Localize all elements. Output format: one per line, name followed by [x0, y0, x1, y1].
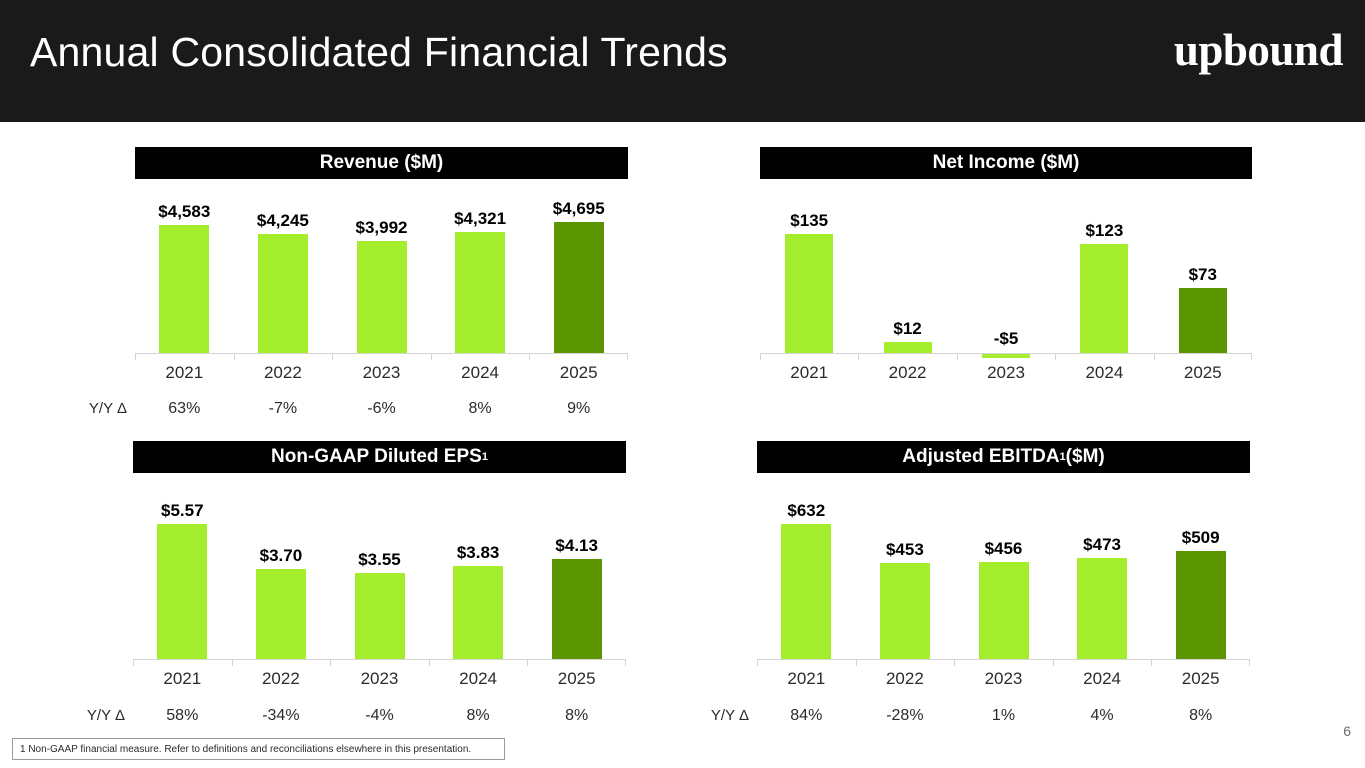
x-axis-line	[135, 353, 628, 354]
category-label-non-gaap-diluted-eps-2023: 2023	[330, 669, 429, 689]
axis-tick	[1154, 353, 1155, 360]
bar-value-label-net-income-2025: $73	[1154, 265, 1252, 285]
axis-tick	[625, 659, 626, 666]
category-label-revenue-2022: 2022	[234, 363, 333, 383]
yy-delta-row-label-adjusted-ebitda: Y/Y Δ	[685, 707, 749, 724]
axis-tick	[529, 353, 530, 360]
bar-adjusted-ebitda-2024	[1077, 558, 1127, 659]
bar-value-label-revenue-2023: $3,992	[332, 218, 431, 238]
yy-delta-revenue-2021: 63%	[135, 400, 234, 418]
category-label-adjusted-ebitda-2023: 2023	[954, 669, 1053, 689]
plot-area-revenue: $4,583$4,245$3,992$4,321$4,695	[135, 205, 628, 355]
bar-value-label-net-income-2021: $135	[760, 211, 858, 231]
category-label-revenue-2021: 2021	[135, 363, 234, 383]
category-label-net-income-2023: 2023	[957, 363, 1055, 383]
yy-delta-non-gaap-diluted-eps-2022: -34%	[232, 707, 331, 725]
chart-title-text: Non-GAAP Diluted EPS	[271, 446, 482, 468]
bar-value-label-adjusted-ebitda-2023: $456	[954, 539, 1053, 559]
axis-tick	[431, 353, 432, 360]
bar-value-label-revenue-2022: $4,245	[234, 211, 333, 231]
yy-delta-revenue-2022: -7%	[234, 400, 333, 418]
yy-delta-adjusted-ebitda-2021: 84%	[757, 707, 856, 725]
yy-delta-revenue-2024: 8%	[431, 400, 530, 418]
chart-panel-adjusted-ebitda: Adjusted EBITDA1 ($M)$632$453$456$473$50…	[757, 441, 1250, 747]
category-label-non-gaap-diluted-eps-2021: 2021	[133, 669, 232, 689]
axis-tick	[1249, 659, 1250, 666]
category-label-adjusted-ebitda-2024: 2024	[1053, 669, 1152, 689]
plot-area-adjusted-ebitda: $632$453$456$473$509	[757, 499, 1250, 661]
category-label-net-income-2022: 2022	[858, 363, 956, 383]
category-label-non-gaap-diluted-eps-2022: 2022	[232, 669, 331, 689]
yy-delta-adjusted-ebitda-2023: 1%	[954, 707, 1053, 725]
category-label-revenue-2024: 2024	[431, 363, 530, 383]
chart-title-text: Adjusted EBITDA	[902, 446, 1059, 468]
axis-tick	[1055, 353, 1056, 360]
footnote-box: 1 Non-GAAP financial measure. Refer to d…	[12, 738, 505, 760]
category-label-adjusted-ebitda-2022: 2022	[856, 669, 955, 689]
bar-revenue-2025	[554, 222, 604, 353]
bar-value-label-adjusted-ebitda-2021: $632	[757, 501, 856, 521]
yy-delta-adjusted-ebitda-2024: 4%	[1053, 707, 1152, 725]
axis-tick	[1151, 659, 1152, 666]
slide-header: Annual Consolidated Financial Trends upb…	[0, 0, 1365, 122]
bar-non-gaap-diluted-eps-2023	[355, 573, 405, 659]
yy-delta-revenue-2023: -6%	[332, 400, 431, 418]
category-label-net-income-2024: 2024	[1055, 363, 1153, 383]
axis-tick	[627, 353, 628, 360]
bar-adjusted-ebitda-2021	[781, 524, 831, 659]
yy-delta-non-gaap-diluted-eps-2024: 8%	[429, 707, 528, 725]
bar-net-income-2023	[982, 354, 1030, 358]
axis-tick	[332, 353, 333, 360]
bar-value-label-adjusted-ebitda-2025: $509	[1151, 528, 1250, 548]
x-axis-line	[757, 659, 1250, 660]
category-label-revenue-2023: 2023	[332, 363, 431, 383]
bar-non-gaap-diluted-eps-2021	[157, 524, 207, 659]
x-axis-line	[133, 659, 626, 660]
bar-net-income-2025	[1179, 288, 1227, 353]
category-label-revenue-2025: 2025	[529, 363, 628, 383]
bar-value-label-revenue-2021: $4,583	[135, 202, 234, 222]
category-label-adjusted-ebitda-2025: 2025	[1151, 669, 1250, 689]
bar-net-income-2024	[1080, 244, 1128, 353]
bar-value-label-net-income-2023: -$5	[957, 329, 1055, 349]
axis-tick	[234, 353, 235, 360]
bar-adjusted-ebitda-2025	[1176, 551, 1226, 659]
bar-value-label-revenue-2024: $4,321	[431, 209, 530, 229]
axis-tick	[858, 353, 859, 360]
axis-tick	[757, 659, 758, 666]
chart-panel-non-gaap-diluted-eps: Non-GAAP Diluted EPS1$5.57$3.70$3.55$3.8…	[133, 441, 626, 747]
bar-revenue-2021	[159, 225, 209, 353]
bar-value-label-non-gaap-diluted-eps-2023: $3.55	[330, 550, 429, 570]
chart-panel-net-income: Net Income ($M)$135$12-$5$123$7320212022…	[760, 147, 1252, 440]
x-axis-line	[760, 353, 1252, 354]
axis-tick	[1251, 353, 1252, 360]
axis-tick	[760, 353, 761, 360]
category-label-adjusted-ebitda-2021: 2021	[757, 669, 856, 689]
category-label-net-income-2021: 2021	[760, 363, 858, 383]
bar-non-gaap-diluted-eps-2025	[552, 559, 602, 659]
axis-tick	[232, 659, 233, 666]
page-number: 6	[1343, 723, 1351, 739]
footnote-text: 1 Non-GAAP financial measure. Refer to d…	[13, 744, 471, 755]
bar-non-gaap-diluted-eps-2022	[256, 569, 306, 659]
axis-tick	[527, 659, 528, 666]
category-label-non-gaap-diluted-eps-2025: 2025	[527, 669, 626, 689]
axis-tick	[330, 659, 331, 666]
axis-tick	[133, 659, 134, 666]
chart-title-text: Net Income ($M)	[933, 152, 1080, 174]
yy-delta-non-gaap-diluted-eps-2025: 8%	[527, 707, 626, 725]
chart-title-text: Revenue ($M)	[320, 152, 444, 174]
category-label-non-gaap-diluted-eps-2024: 2024	[429, 669, 528, 689]
chart-panel-revenue: Revenue ($M)$4,583$4,245$3,992$4,321$4,6…	[135, 147, 628, 440]
bar-non-gaap-diluted-eps-2024	[453, 566, 503, 659]
plot-area-net-income: $135$12-$5$123$73	[760, 205, 1252, 355]
bar-value-label-net-income-2022: $12	[858, 319, 956, 339]
axis-tick	[957, 353, 958, 360]
bar-value-label-adjusted-ebitda-2022: $453	[856, 540, 955, 560]
bar-revenue-2022	[258, 234, 308, 353]
axis-tick	[1053, 659, 1054, 666]
bar-adjusted-ebitda-2023	[979, 562, 1029, 659]
axis-tick	[135, 353, 136, 360]
yy-delta-non-gaap-diluted-eps-2023: -4%	[330, 707, 429, 725]
bar-value-label-non-gaap-diluted-eps-2024: $3.83	[429, 543, 528, 563]
chart-title-adjusted-ebitda: Adjusted EBITDA1 ($M)	[757, 441, 1250, 473]
yy-delta-row-label-revenue: Y/Y Δ	[63, 400, 127, 417]
yy-delta-adjusted-ebitda-2022: -28%	[856, 707, 955, 725]
chart-title-suffix: ($M)	[1066, 446, 1105, 468]
yy-delta-adjusted-ebitda-2025: 8%	[1151, 707, 1250, 725]
yy-delta-non-gaap-diluted-eps-2021: 58%	[133, 707, 232, 725]
bar-value-label-revenue-2025: $4,695	[529, 199, 628, 219]
chart-title-non-gaap-diluted-eps: Non-GAAP Diluted EPS1	[133, 441, 626, 473]
bar-net-income-2021	[785, 234, 833, 353]
upbound-logo: upbound	[1174, 24, 1343, 76]
chart-title-net-income: Net Income ($M)	[760, 147, 1252, 179]
yy-delta-row-label-non-gaap-diluted-eps: Y/Y Δ	[61, 707, 125, 724]
bar-value-label-net-income-2024: $123	[1055, 221, 1153, 241]
bar-value-label-non-gaap-diluted-eps-2022: $3.70	[232, 546, 331, 566]
axis-tick	[954, 659, 955, 666]
category-label-net-income-2025: 2025	[1154, 363, 1252, 383]
axis-tick	[856, 659, 857, 666]
bar-value-label-non-gaap-diluted-eps-2021: $5.57	[133, 501, 232, 521]
bar-net-income-2022	[884, 342, 932, 353]
bar-adjusted-ebitda-2022	[880, 563, 930, 659]
yy-delta-revenue-2025: 9%	[529, 400, 628, 418]
bar-revenue-2023	[357, 241, 407, 353]
chart-title-revenue: Revenue ($M)	[135, 147, 628, 179]
bar-value-label-adjusted-ebitda-2024: $473	[1053, 535, 1152, 555]
bar-revenue-2024	[455, 232, 505, 353]
plot-area-non-gaap-diluted-eps: $5.57$3.70$3.55$3.83$4.13	[133, 499, 626, 661]
bar-value-label-non-gaap-diluted-eps-2025: $4.13	[527, 536, 626, 556]
page-title: Annual Consolidated Financial Trends	[30, 29, 728, 76]
axis-tick	[429, 659, 430, 666]
